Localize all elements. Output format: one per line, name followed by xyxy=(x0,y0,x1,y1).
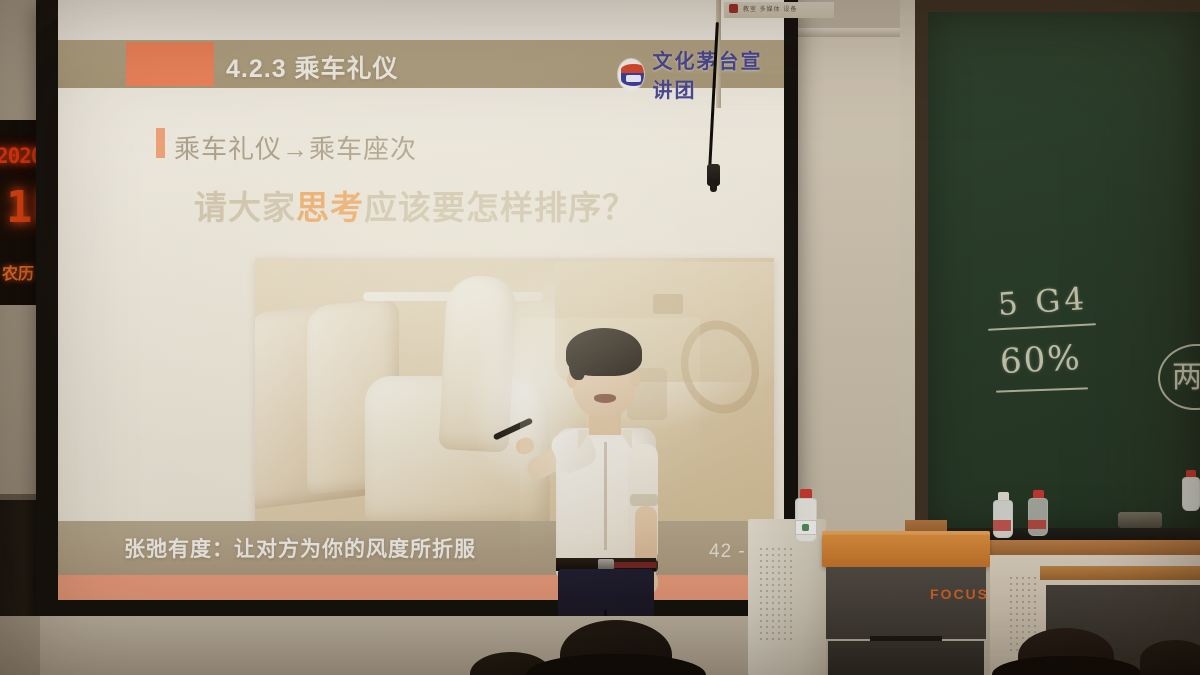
lectern-body xyxy=(826,567,986,639)
chalk-circled-char: 两 xyxy=(1172,352,1200,396)
bottle-label xyxy=(1028,520,1046,529)
water-bottle-far-right xyxy=(1182,470,1200,511)
bottle-cap xyxy=(998,492,1009,500)
mouth xyxy=(594,394,616,403)
bottle-body xyxy=(1182,477,1200,511)
blackboard xyxy=(928,12,1200,530)
slide-footer-text: 张弛有度：让对方为你的风度所折服 xyxy=(124,533,476,563)
water-bottle-on-ac-unit xyxy=(795,489,817,542)
placard-logo-icon xyxy=(729,4,738,13)
slide-header-accent-block xyxy=(126,42,214,86)
wall-below-screen-left xyxy=(0,616,40,675)
lectern-base xyxy=(828,641,984,675)
bottle-label xyxy=(993,520,1011,531)
slide-title: 4.2.3 乘车礼仪 xyxy=(226,49,399,85)
bottle-body xyxy=(1028,498,1048,536)
hair xyxy=(566,328,642,376)
slide-page-number: 42 - xyxy=(709,541,746,563)
brand-logo: 文化茅台宣讲团 xyxy=(618,45,784,103)
water-bottle-ledge-left xyxy=(993,492,1013,538)
question-line: 请大家思考应该要怎样排序？ xyxy=(194,181,636,229)
audience-head xyxy=(1140,640,1200,675)
bottle-cap xyxy=(1033,490,1044,498)
chalkboard-eraser xyxy=(1118,512,1162,528)
chalk-line-2: 60% xyxy=(999,338,1083,382)
air-vent xyxy=(653,294,683,314)
bottle-cap xyxy=(1186,470,1196,477)
shirt-placket xyxy=(604,442,607,550)
audience-head xyxy=(1018,628,1114,675)
mic-connector xyxy=(707,164,720,186)
classroom-scene: 2020 全 1E 农历 4.2.3 乘车礼仪 文化茅台宣讲团 乘车礼仪→乘车座… xyxy=(0,0,1200,675)
mountain-logo-icon xyxy=(618,59,644,90)
chalk-line-1: 5 G4 xyxy=(997,281,1089,323)
ac-unit-grill xyxy=(758,546,792,642)
right-sleeve-cuff xyxy=(630,494,658,506)
bottle-body xyxy=(993,500,1013,538)
section-accent-bar xyxy=(156,128,165,158)
belt-red-segment xyxy=(614,562,656,568)
ear-right xyxy=(630,372,640,388)
question-highlight: 思考 xyxy=(296,189,364,226)
water-bottle-ledge-right xyxy=(1028,490,1048,536)
question-suffix: 应该要怎样排序？ xyxy=(364,189,636,226)
lectern-wood-top xyxy=(822,535,990,567)
lectern-brand-label: FOCUS xyxy=(930,586,989,602)
question-prefix: 请大家 xyxy=(194,189,296,226)
bottle-body xyxy=(795,498,817,542)
teacher-desk-shelf xyxy=(1040,566,1200,580)
placard-text: 教室 多媒体 设备 xyxy=(743,4,797,13)
bottle-label xyxy=(795,520,817,535)
section-heading: 乘车礼仪→乘车座次 xyxy=(174,129,417,166)
bottle-cap xyxy=(800,489,812,498)
